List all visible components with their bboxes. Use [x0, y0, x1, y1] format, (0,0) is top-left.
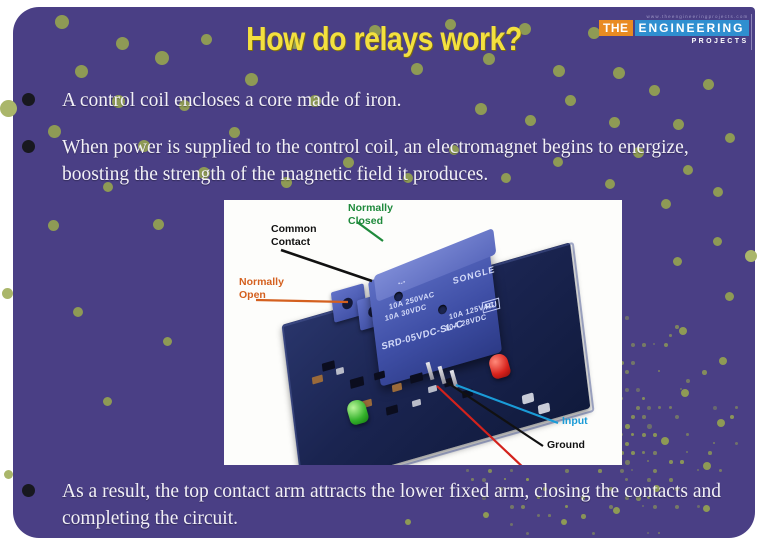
bullet-marker — [22, 484, 35, 497]
bullet-text: As a result, the top contact arm attract… — [62, 478, 744, 532]
relay-module-photo: SONGLE ꞏ-ꞏ 10A 250VAC 10A 30VDC 10A 125V… — [224, 200, 622, 465]
slide-root: How do relays work? www.theengineeringpr… — [0, 0, 768, 545]
decor-dot — [745, 250, 757, 262]
bullet-item: A control coil encloses a core made of i… — [22, 87, 722, 114]
decor-dot — [0, 100, 17, 117]
logo-engineering: ENGINEERING — [635, 20, 749, 36]
bullet-text: When power is supplied to the control co… — [62, 134, 750, 188]
decor-dot — [4, 470, 13, 479]
decor-dot — [2, 288, 13, 299]
label-leader-lines — [224, 200, 622, 465]
logo-divider — [751, 14, 752, 50]
bullet-item: When power is supplied to the control co… — [22, 134, 750, 188]
bullet-marker — [22, 93, 35, 106]
logo-projects: PROJECTS — [599, 38, 749, 45]
bullet-text: A control coil encloses a core made of i… — [62, 87, 402, 114]
brand-logo[interactable]: www.theengineeringprojects.com THE ENGIN… — [596, 12, 746, 54]
logo-the: THE — [599, 20, 633, 36]
bullet-item: As a result, the top contact arm attract… — [22, 478, 744, 532]
bullet-marker — [22, 140, 35, 153]
